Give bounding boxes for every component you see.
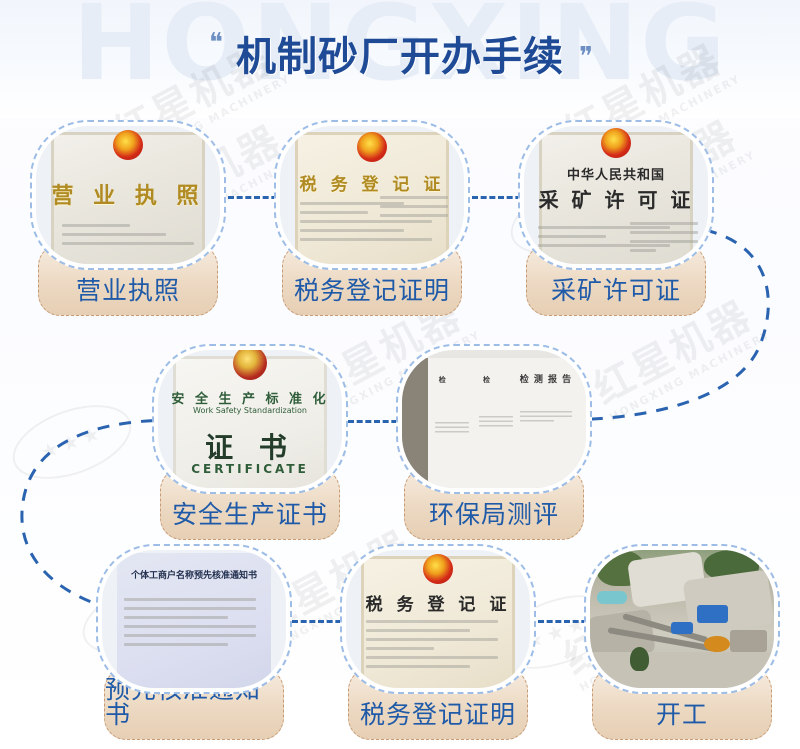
watermark-seal-ring: ★★★ <box>3 391 141 494</box>
step-8-photo-frame <box>584 544 780 694</box>
national-emblem-icon <box>601 128 631 158</box>
step-4-doc-title: 证 书 <box>158 426 342 466</box>
step-5-doc-sub: 检 <box>439 375 447 385</box>
wheel-icon <box>704 636 730 653</box>
crusher-machine-icon <box>697 605 728 623</box>
work-safety-standardization-certificate-icon: 安 全 生 产 标 准 化 Work Safety Standardizatio… <box>158 350 342 488</box>
step-card-8[interactable]: 开工 <box>584 544 780 740</box>
step-card-6[interactable]: 个体工商户名称预先核准通知书 预先核准通知书 <box>96 544 292 740</box>
watermark-en: HONGXING MACHINERY <box>607 328 773 424</box>
tax-registration-certificate-icon: 税 务 登 记 证 <box>280 126 464 264</box>
step-card-5[interactable]: 检 检 检 测 报 告 <box>396 344 592 540</box>
step-4-doc-sub-en: Work Safety Standardization <box>158 406 342 415</box>
step-2-photo-frame: 税 务 登 记 证 <box>274 120 470 270</box>
name-preapproval-notice-icon: 个体工商户名称预先核准通知书 <box>102 550 286 688</box>
step-3-label-text: 采矿许可证 <box>551 278 681 303</box>
step-6-photo-frame: 个体工商户名称预先核准通知书 <box>96 544 292 694</box>
step-3-doc-title: 采 矿 许 可 证 <box>524 184 708 213</box>
quote-open-icon: ❝ <box>209 28 221 58</box>
step-card-3[interactable]: 中华人民共和国 采 矿 许 可 证 采矿许可证 <box>518 120 714 316</box>
step-8-label-text: 开工 <box>656 702 708 727</box>
infographic-canvas: HONGXING 红星机器 HONGXING MACHINERY 红星机器 HO… <box>0 0 800 749</box>
step-5-photo-frame: 检 检 检 测 报 告 <box>396 344 592 494</box>
step-4-doc-title-en: CERTIFICATE <box>158 462 342 476</box>
step-4-photo-frame: 安 全 生 产 标 准 化 Work Safety Standardizatio… <box>152 344 348 494</box>
national-emblem-icon <box>357 132 387 162</box>
step-4-label-text: 安全生产证书 <box>172 502 328 527</box>
step-1-photo-frame: 营 业 执 照 <box>30 120 226 270</box>
quarry-crushing-plant-photo-icon <box>590 550 774 688</box>
step-card-2[interactable]: 税 务 登 记 证 税务登记证明 <box>274 120 470 316</box>
environmental-inspection-reports-icon: 检 检 检 测 报 告 <box>402 350 586 488</box>
step-2-doc-title: 税 务 登 记 证 <box>280 170 464 195</box>
step-6-doc-title: 个体工商户名称预先核准通知书 <box>102 568 286 581</box>
step-card-1[interactable]: 营 业 执 照 营业执照 <box>30 120 226 316</box>
step-card-7[interactable]: 税 务 登 记 证 税务登记证明 <box>340 544 536 740</box>
tax-registration-certificate-2-icon: 税 务 登 记 证 <box>346 550 530 688</box>
step-3-photo-frame: 中华人民共和国 采 矿 许 可 证 <box>518 120 714 270</box>
step-7-doc-title: 税 务 登 记 证 <box>346 590 530 615</box>
step-2-label-text: 税务登记证明 <box>294 278 450 303</box>
conveyor-machine-icon <box>671 622 693 634</box>
step-1-label-text: 营业执照 <box>76 278 180 303</box>
step-5-label-text: 环保局测评 <box>429 502 559 527</box>
step-7-label-text: 税务登记证明 <box>360 702 516 727</box>
quote-close-icon: ❞ <box>579 42 591 72</box>
step-1-doc-title: 营 业 执 照 <box>36 178 220 210</box>
national-emblem-icon <box>113 130 143 160</box>
step-5-doc-title: 检 测 报 告 <box>520 372 572 385</box>
mining-permit-certificate-icon: 中华人民共和国 采 矿 许 可 证 <box>524 126 708 264</box>
step-4-doc-sub: 安 全 生 产 标 准 化 <box>158 388 342 407</box>
page-title-text: 机制砂厂开办手续 <box>236 24 564 82</box>
business-license-certificate-icon: 营 业 执 照 <box>36 126 220 264</box>
step-7-photo-frame: 税 务 登 记 证 <box>340 544 536 694</box>
page-title: ❝ 机制砂厂开办手续 ❞ <box>0 24 800 82</box>
step-card-4[interactable]: 安 全 生 产 标 准 化 Work Safety Standardizatio… <box>152 344 348 540</box>
step-3-doc-sub: 中华人民共和国 <box>524 164 708 183</box>
national-emblem-icon <box>423 554 453 584</box>
step-5-doc-sub-2: 检 <box>483 375 491 385</box>
